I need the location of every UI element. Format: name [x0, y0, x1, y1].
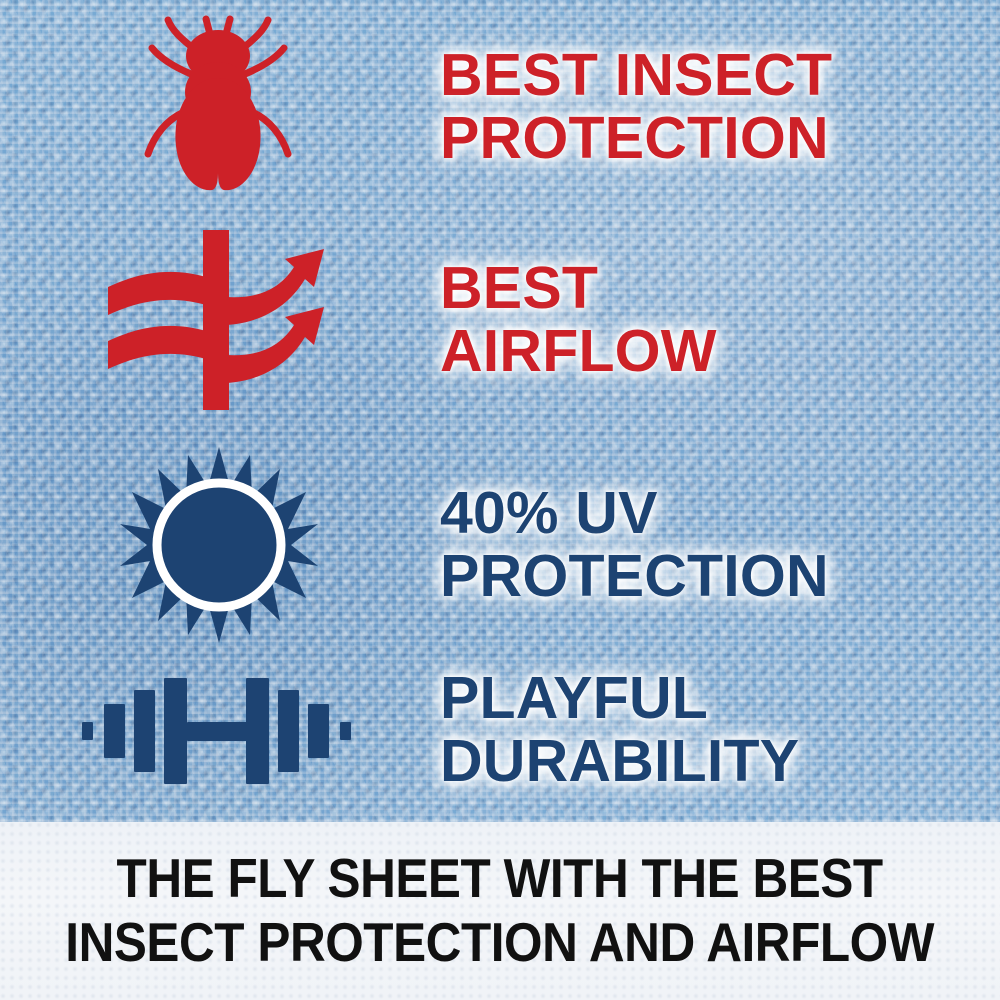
- text-cell-uv-protection: 40% UV PROTECTION: [440, 482, 1000, 607]
- text-cell-insect-protection: BEST INSECT PROTECTION: [440, 44, 1000, 169]
- icon-cell-insect-protection: [0, 12, 440, 202]
- icon-cell-uv-protection: [0, 445, 440, 645]
- feature-list: BEST INSECT PROTECTION: [0, 0, 1000, 824]
- feature-row-durability: PLAYFUL DURABILITY: [0, 655, 1000, 805]
- text-cell-airflow: BEST AIRFLOW: [440, 257, 1000, 382]
- infographic-poster: BEST INSECT PROTECTION: [0, 0, 1000, 1000]
- sun-icon: [119, 445, 319, 645]
- feature-label-insect-protection: BEST INSECT PROTECTION: [440, 44, 980, 169]
- feature-label-airflow: BEST AIRFLOW: [440, 257, 980, 382]
- airflow-arrows-icon: [102, 225, 332, 415]
- caption-band: THE FLY SHEET WITH THE BEST INSECT PROTE…: [0, 822, 1000, 1000]
- text-cell-durability: PLAYFUL DURABILITY: [440, 667, 1000, 792]
- feature-row-airflow: BEST AIRFLOW: [0, 225, 1000, 415]
- feature-row-insect-protection: BEST INSECT PROTECTION: [0, 12, 1000, 202]
- feature-row-uv-protection: 40% UV PROTECTION: [0, 440, 1000, 650]
- feature-label-durability: PLAYFUL DURABILITY: [440, 667, 980, 792]
- fly-icon: [128, 12, 308, 202]
- caption-headline: THE FLY SHEET WITH THE BEST INSECT PROTE…: [66, 847, 935, 975]
- icon-cell-durability: [0, 660, 440, 800]
- icon-cell-airflow: [0, 225, 440, 415]
- dumbbell-icon: [76, 660, 356, 800]
- feature-label-uv-protection: 40% UV PROTECTION: [440, 482, 980, 607]
